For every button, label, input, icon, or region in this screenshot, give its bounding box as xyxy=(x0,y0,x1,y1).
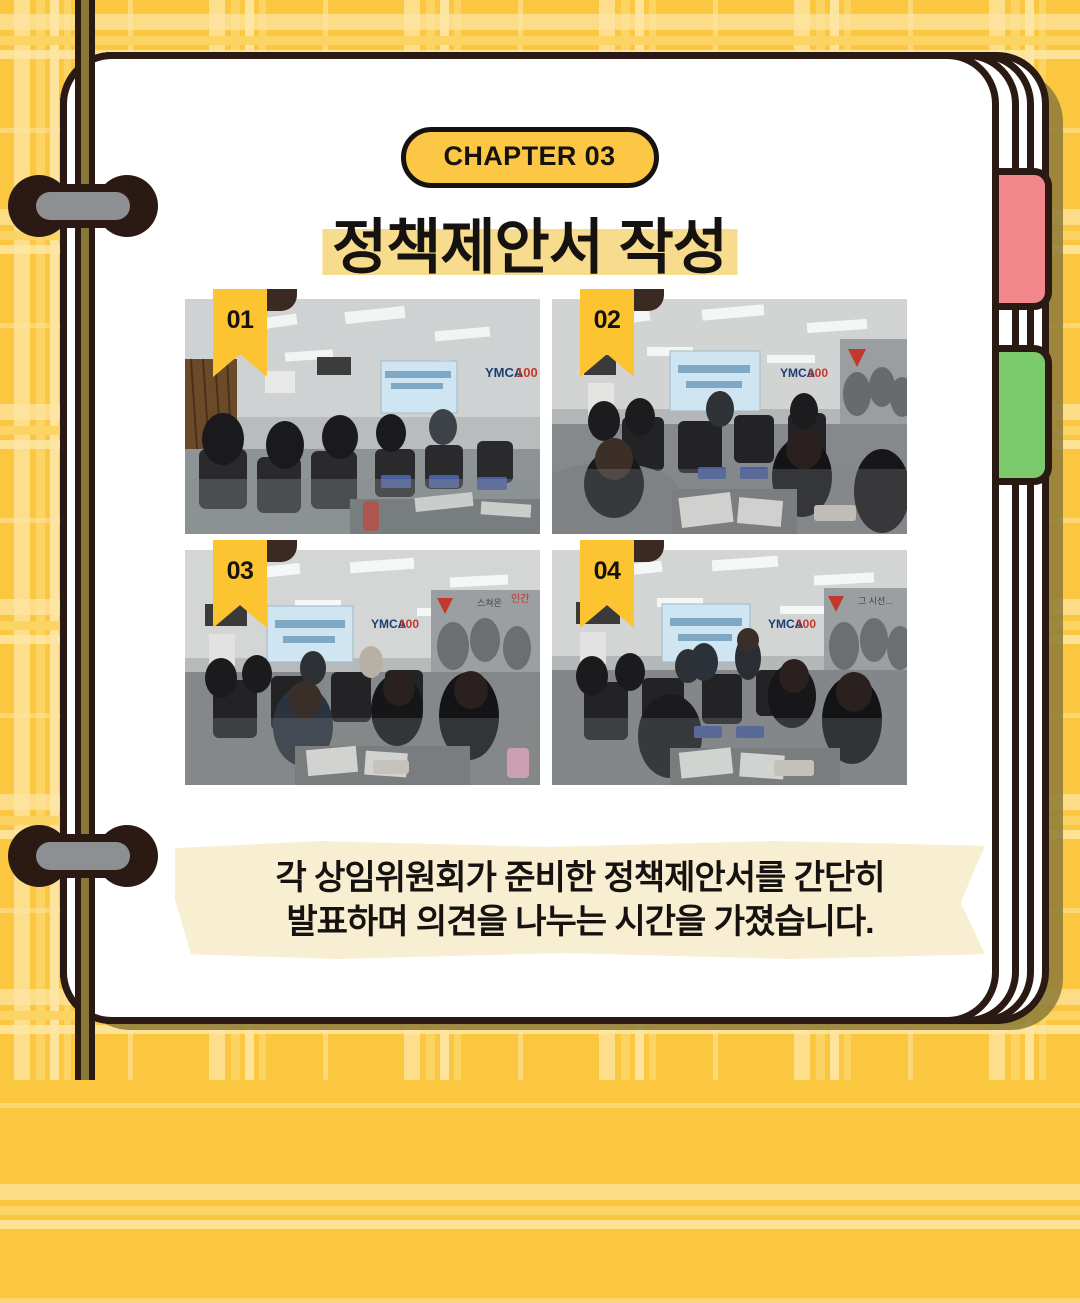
photo-number-label-01: 01 xyxy=(227,306,254,335)
chapter-badge: CHAPTER 03 xyxy=(400,127,658,188)
page-title: 정책제안서 작성 xyxy=(332,199,727,286)
plaid-vstripe xyxy=(36,0,45,1080)
plaid-hstripe xyxy=(0,1184,1080,1200)
chapter-badge-label: CHAPTER 03 xyxy=(443,141,615,171)
photo-number-label-04: 04 xyxy=(594,557,621,586)
plaid-hstripe xyxy=(0,1298,1080,1303)
binder-clip-bar xyxy=(18,834,148,878)
photo-cell-03[interactable]: YMCA 100 스쳐온 인간 xyxy=(185,550,540,785)
svg-text:100: 100 xyxy=(808,366,828,380)
binder-spine xyxy=(75,0,95,1080)
svg-text:100: 100 xyxy=(399,617,419,631)
photo-cell-02[interactable]: YMCA 100 xyxy=(552,299,907,534)
photo-number-label-03: 03 xyxy=(227,557,254,586)
photo-cell-01[interactable]: YMCA 100 xyxy=(185,299,540,534)
plaid-vstripe xyxy=(14,0,30,1080)
photo-number-label-02: 02 xyxy=(594,306,621,335)
plaid-vstripe xyxy=(50,0,59,1080)
plaid-hstripe xyxy=(0,14,1080,30)
photo-cell-04[interactable]: YMCA 100 그 시선... xyxy=(552,550,907,785)
main-card: CHAPTER 03 정책제안서 작성 xyxy=(60,52,999,1024)
binder-clip-bottom[interactable] xyxy=(8,825,158,887)
plaid-hstripe xyxy=(0,1103,1080,1108)
svg-text:그 시선...: 그 시선... xyxy=(858,596,893,606)
svg-text:스쳐온: 스쳐온 xyxy=(477,597,502,608)
title-text: 정책제안서 작성 xyxy=(332,199,727,286)
plaid-hstripe xyxy=(0,1206,1080,1215)
svg-text:100: 100 xyxy=(796,617,816,631)
photo-grid: YMCA 100 xyxy=(185,299,875,785)
caption-line-2: 발표하며 의견을 나누는 시간을 가졌습니다. xyxy=(286,902,873,943)
binder-clip-top[interactable] xyxy=(8,175,158,237)
svg-text:100: 100 xyxy=(516,365,538,380)
caption-banner: 각 상임위원회가 준비한 정책제안서를 간단히 발표하며 의견을 나누는 시간을… xyxy=(175,841,985,959)
caption-line-1: 각 상임위원회가 준비한 정책제안서를 간단히 xyxy=(275,858,884,899)
binder-spine-inner xyxy=(81,0,89,1080)
plaid-hstripe xyxy=(0,1220,1080,1229)
binder-clip-bar xyxy=(18,184,148,228)
svg-text:인간: 인간 xyxy=(511,593,529,605)
plaid-hstripe xyxy=(0,36,1080,45)
